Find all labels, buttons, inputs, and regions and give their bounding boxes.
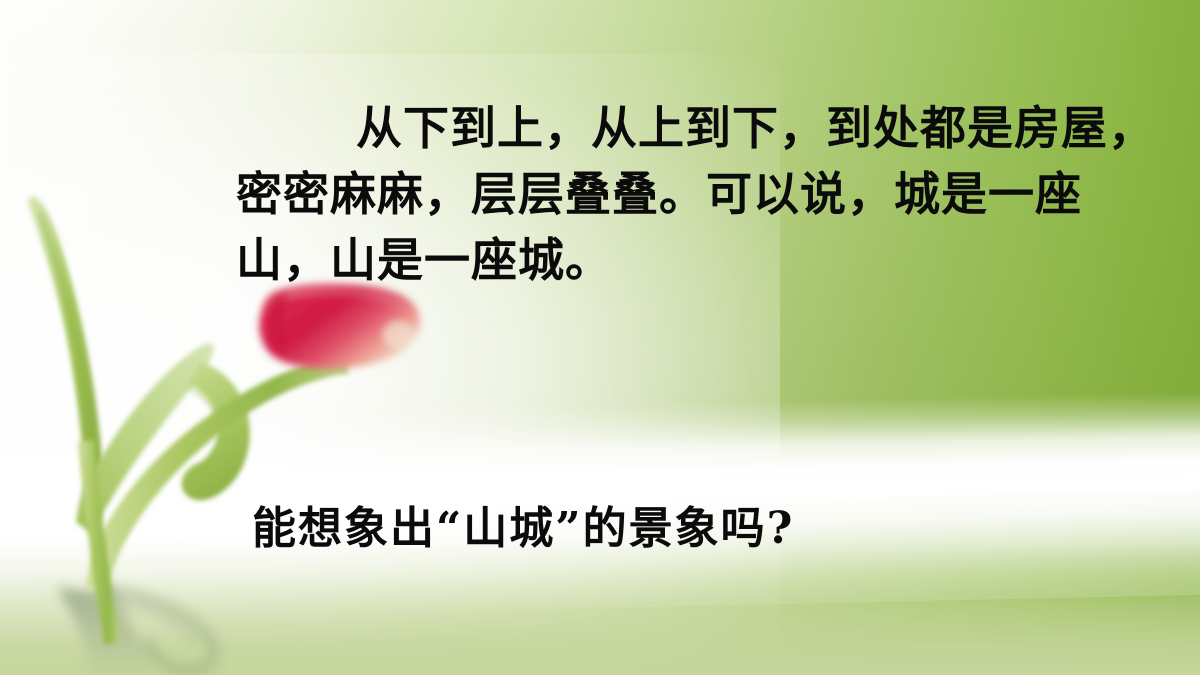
question-line: 能想象出“山城”的景象吗? <box>252 500 794 558</box>
body-paragraph: 从下到上，从上到下，到处都是房屋，密密麻麻，层层叠叠。可以说，城是一座山，山是一… <box>236 95 1166 293</box>
slide-canvas: 从下到上，从上到下，到处都是房屋，密密麻麻，层层叠叠。可以说，城是一座山，山是一… <box>0 0 1200 675</box>
text-layer: 从下到上，从上到下，到处都是房屋，密密麻麻，层层叠叠。可以说，城是一座山，山是一… <box>0 0 1200 675</box>
